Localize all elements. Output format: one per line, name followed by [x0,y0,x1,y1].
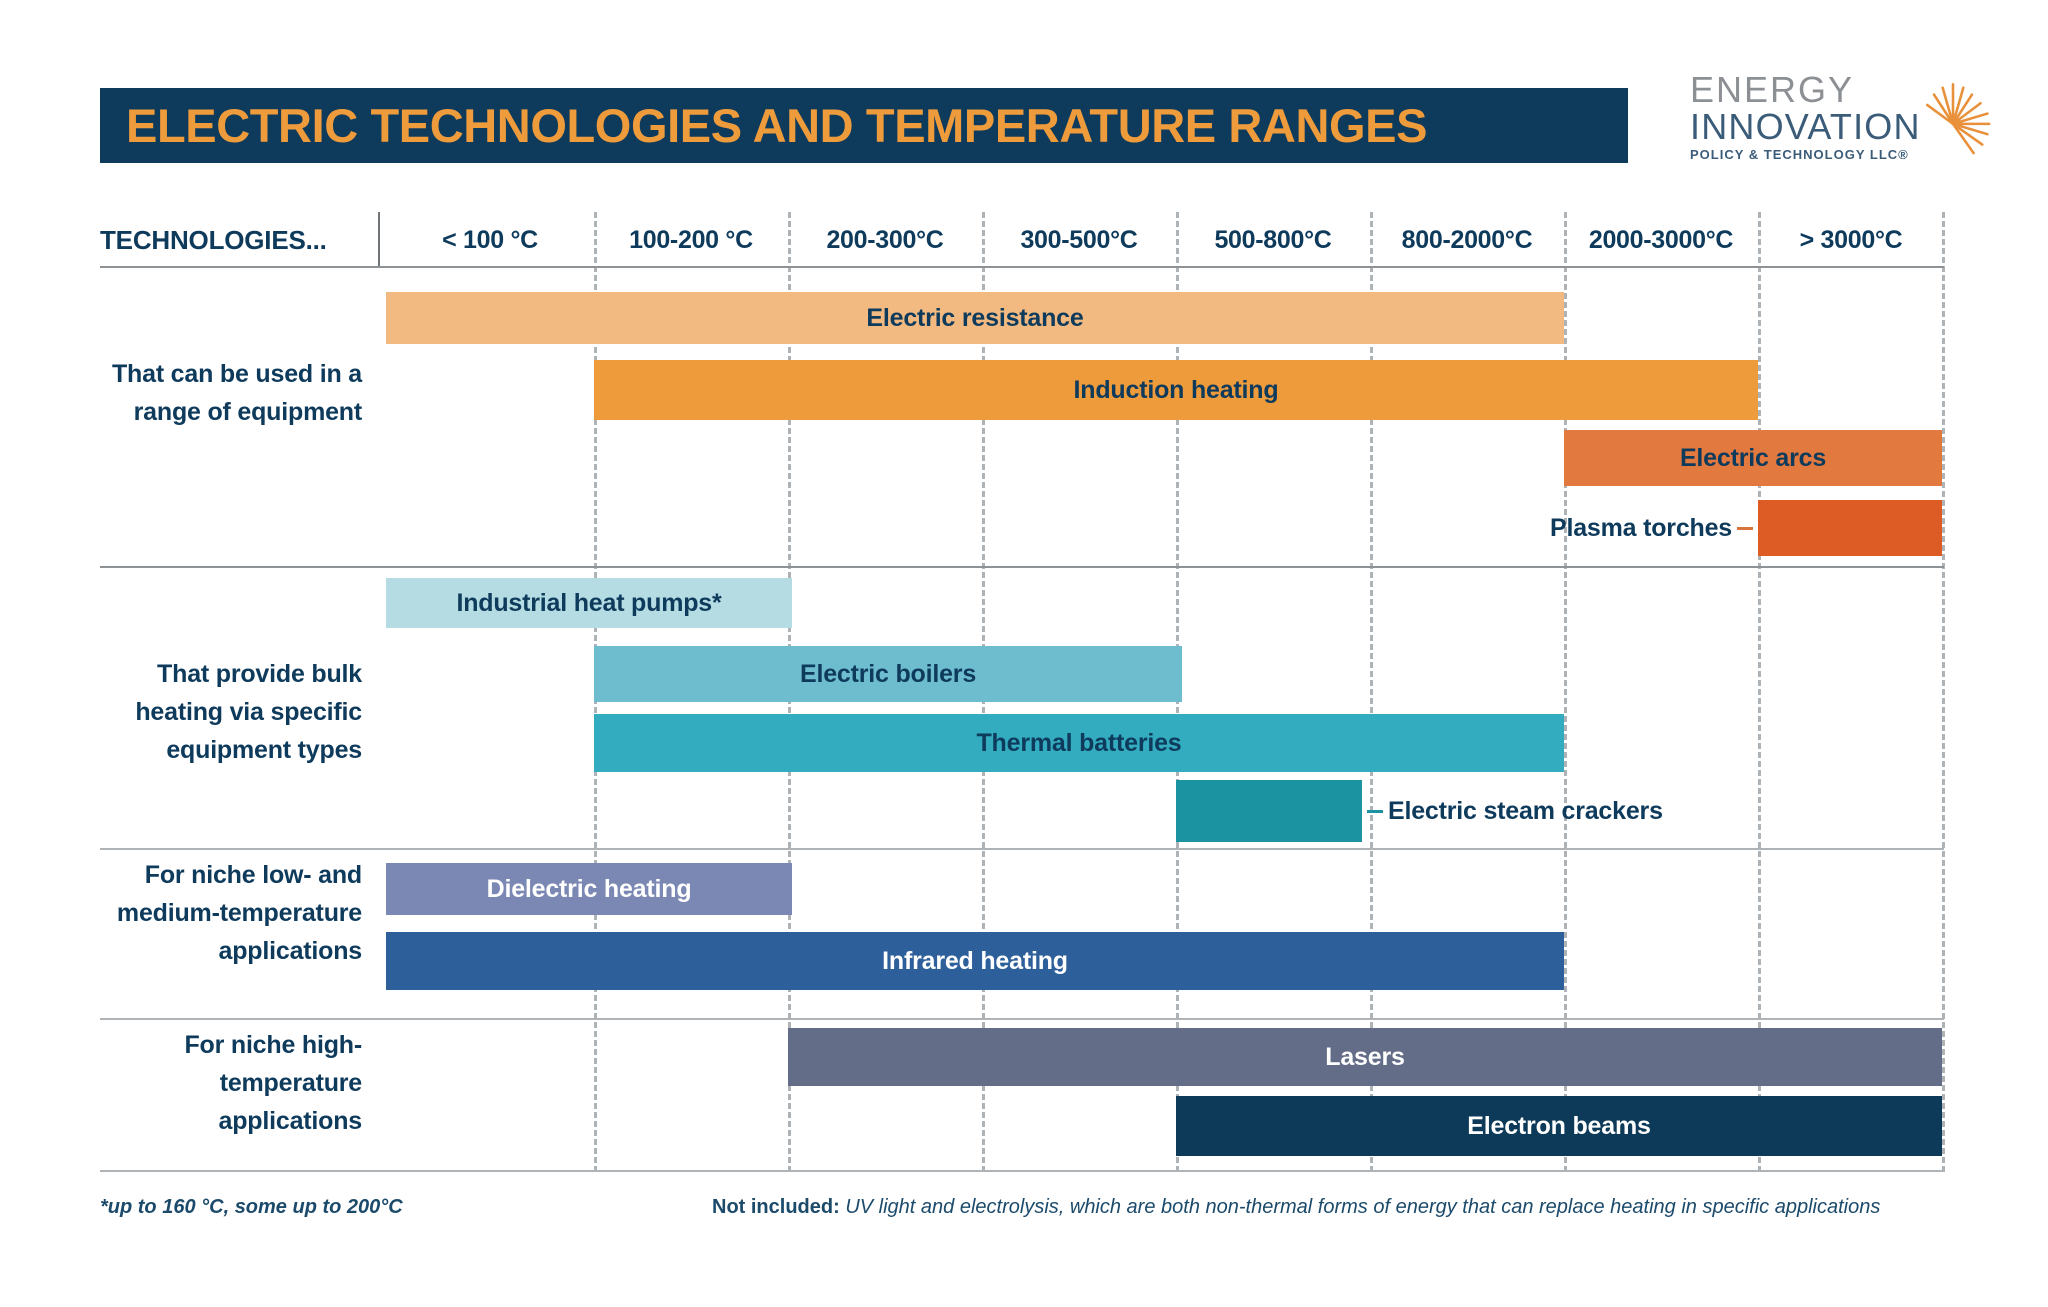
group-label-bulk-heating: That provide bulk heating via specific e… [100,655,362,769]
bar-label-induction-heating: Induction heating [1074,376,1279,405]
group-label-range-equipment: That can be used in a range of equipment [100,355,362,431]
leader-line-icon [1737,527,1753,530]
bar-plasma-torches[interactable] [1758,500,1942,556]
footnote-heat-pump: *up to 160 °C, some up to 200°C [100,1196,403,1219]
bar-label-electric-boilers: Electric boilers [800,660,976,689]
group-label-niche-high: For niche high-temperature applications [100,1026,362,1140]
column-header-500-800: 500-800°C [1176,215,1370,265]
bar-induction-heating[interactable]: Induction heating [594,360,1758,420]
bar-label-electric-resistance: Electric resistance [866,304,1083,333]
bar-label-infrared-heating: Infrared heating [882,947,1068,976]
bar-label-lasers: Lasers [1325,1043,1404,1072]
bar-label-industrial-heat-pumps: Industrial heat pumps* [456,589,721,618]
bar-lasers[interactable]: Lasers [788,1028,1942,1086]
column-header-lt100: < 100 °C [386,215,594,265]
separator-group-2 [100,848,1944,850]
bar-electron-beams[interactable]: Electron beams [1176,1096,1942,1156]
bar-label-dielectric-heating: Dielectric heating [487,875,692,904]
bar-label-plasma-torches: Plasma torches [1528,515,1758,541]
bar-electric-steam-crackers[interactable] [1176,780,1362,842]
footnote-not-included-label: Not included: [712,1196,840,1218]
separator-group-1 [100,566,1944,568]
separator-group-4 [100,1170,1944,1172]
electric-steam-crackers-text: Electric steam crackers [1388,797,1663,826]
bar-thermal-batteries[interactable]: Thermal batteries [594,714,1564,772]
column-header-800-2000: 800-2000°C [1370,215,1564,265]
separator-header [100,266,1944,268]
bar-infrared-heating[interactable]: Infrared heating [386,932,1564,990]
bar-label-thermal-batteries: Thermal batteries [976,729,1181,758]
leader-line-icon [1367,810,1383,813]
row-header-label: TECHNOLOGIES... [100,215,362,265]
plasma-torches-text: Plasma torches [1550,514,1732,543]
column-header-100-200: 100-200 °C [594,215,788,265]
bar-label-electric-arcs: Electric arcs [1680,444,1826,473]
bar-dielectric-heating[interactable]: Dielectric heating [386,863,792,915]
column-header-2000-3000: 2000-3000°C [1564,215,1758,265]
column-header-200-300: 200-300°C [788,215,982,265]
column-header-300-500: 300-500°C [982,215,1176,265]
header-column-divider [378,212,380,268]
bar-electric-resistance[interactable]: Electric resistance [386,292,1564,344]
footnote-not-included-text: UV light and electrolysis, which are bot… [845,1196,1880,1218]
column-header-gt3000: > 3000°C [1758,215,1944,265]
bar-electric-arcs[interactable]: Electric arcs [1564,430,1942,486]
bar-electric-boilers[interactable]: Electric boilers [594,646,1182,702]
separator-group-3 [100,1018,1944,1020]
gridline-right-edge [1942,212,1945,1172]
bar-label-electron-beams: Electron beams [1467,1112,1650,1141]
bar-industrial-heat-pumps[interactable]: Industrial heat pumps* [386,578,792,628]
group-label-niche-low-medium: For niche low- and medium-temperature ap… [100,856,362,970]
footnote-not-included: Not included: UV light and electrolysis,… [712,1196,1880,1219]
bar-label-electric-steam-crackers: Electric steam crackers [1362,798,1663,824]
temperature-range-chart: TECHNOLOGIES... < 100 °C 100-200 °C 200-… [0,0,2048,1307]
